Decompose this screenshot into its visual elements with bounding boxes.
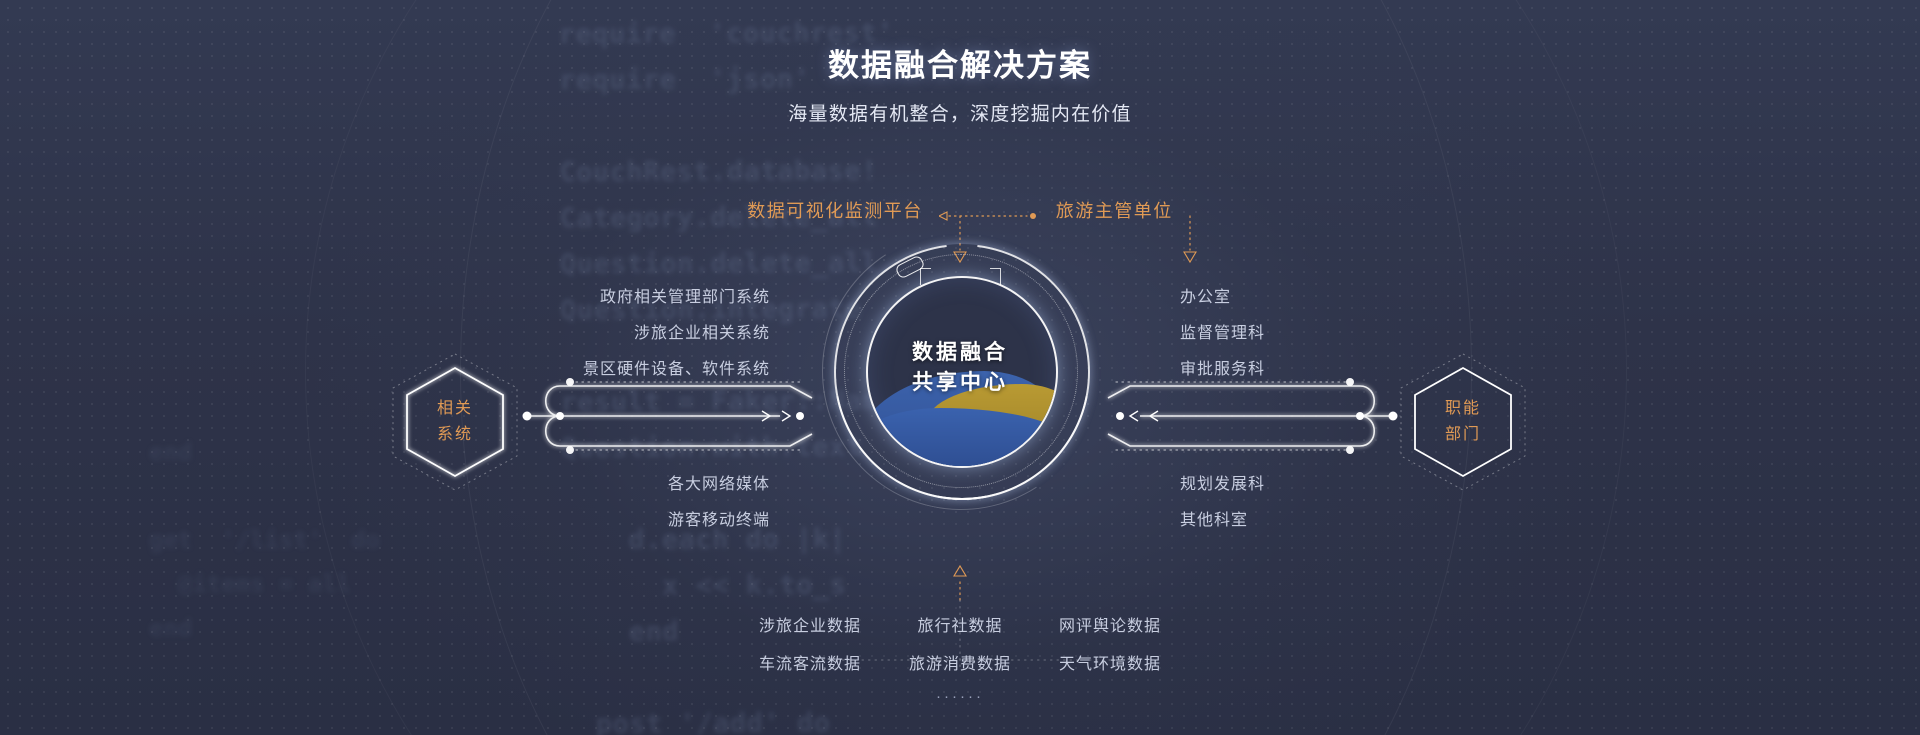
hexagon-right-line1: 职能 [1445, 396, 1481, 422]
bottom-grid-row-1: 涉旅企业数据 旅行社数据 网评舆论数据 [0, 612, 1920, 636]
page-subtitle: 海量数据有机整合，深度挖掘内在价值 [0, 99, 1920, 126]
label-data-visualization-platform: 数据可视化监测平台 [747, 201, 923, 221]
bottom-cell-weather-environment-data: 天气环境数据 [1035, 650, 1185, 674]
page-title: 数据融合解决方案 [0, 40, 1920, 85]
left-label-network-media: 各大网络媒体 [300, 470, 770, 494]
core-label: 数据融合 共享中心 [840, 338, 1080, 398]
bottom-cell-travel-agency-data: 旅行社数据 [885, 612, 1035, 636]
hexagon-left-line2: 系统 [437, 422, 473, 448]
top-orange-row: 数据可视化监测平台 旅游主管单位 [0, 197, 1920, 223]
bottom-cell-enterprise-data: 涉旅企业数据 [735, 612, 885, 636]
bottom-data-grid: 涉旅企业数据 旅行社数据 网评舆论数据 车流客流数据 旅游消费数据 天气环境数据… [0, 612, 1920, 705]
hexagon-right-line2: 部门 [1445, 422, 1481, 448]
right-label-approval-service-dept: 审批服务科 [1180, 355, 1265, 379]
bottom-ellipsis: ······ [0, 688, 1920, 705]
left-label-tourist-mobile-terminal: 游客移动终端 [300, 506, 770, 530]
dotted-arrow-left-icon [939, 205, 1039, 215]
left-label-tourism-enterprise-systems: 涉旅企业相关系统 [300, 319, 770, 343]
sphere-water-front-layer [866, 408, 1058, 466]
hexagon-functional-departments[interactable]: 职能 部门 [1398, 352, 1528, 492]
core-bracket-right-icon [990, 268, 1001, 285]
left-label-scenic-hardware-software: 景区硬件设备、软件系统 [300, 355, 770, 379]
bottom-cell-tourism-consumption-data: 旅游消费数据 [885, 650, 1035, 674]
right-label-planning-development-dept: 规划发展科 [1180, 470, 1265, 494]
header: 数据融合解决方案 海量数据有机整合，深度挖掘内在价值 [0, 40, 1920, 126]
core-label-line1: 数据融合 [840, 338, 1080, 368]
right-label-office: 办公室 [1180, 283, 1231, 307]
infographic-canvas: require 'couchrest' require 'json' Couch… [0, 0, 1920, 735]
left-label-government-systems: 政府相关管理部门系统 [300, 283, 770, 307]
bottom-cell-online-review-data: 网评舆论数据 [1035, 612, 1185, 636]
right-label-supervision-dept: 监督管理科 [1180, 319, 1265, 343]
label-tourism-authority: 旅游主管单位 [1056, 201, 1173, 221]
hexagon-left-line1: 相关 [437, 396, 473, 422]
hexagon-right-label: 职能 部门 [1398, 352, 1528, 492]
right-label-other-depts: 其他科室 [1180, 506, 1248, 530]
core-bracket-left-icon [920, 268, 931, 285]
core-sphere-group: 数据融合 共享中心 [840, 250, 1080, 490]
bottom-cell-traffic-flow-data: 车流客流数据 [735, 650, 885, 674]
core-label-line2: 共享中心 [840, 368, 1080, 398]
bottom-grid-row-2: 车流客流数据 旅游消费数据 天气环境数据 [0, 650, 1920, 674]
